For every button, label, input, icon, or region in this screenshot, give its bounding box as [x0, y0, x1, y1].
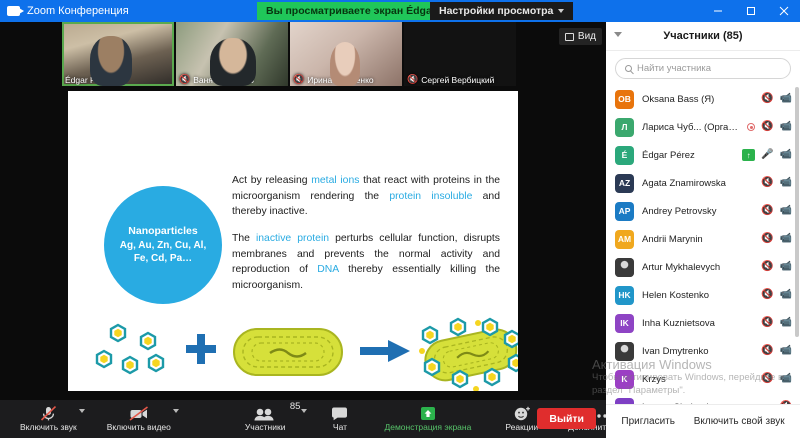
avatar: AZ: [615, 174, 634, 193]
participants-panel-footer: Пригласить Включить свой звук: [606, 404, 800, 438]
chevron-down-icon: [558, 9, 564, 13]
maximize-button[interactable]: [734, 0, 767, 22]
avatar: ОВ: [615, 90, 634, 109]
camera-off-icon[interactable]: 📹: [780, 206, 792, 216]
camera-on-icon[interactable]: 📹: [780, 150, 792, 160]
mic-off-icon[interactable]: 🔇: [761, 206, 773, 216]
grid-view-icon: [565, 33, 574, 41]
toolbar-participants-label: Участники: [245, 422, 286, 432]
toolbar-unmute-button[interactable]: Включить звук: [14, 400, 83, 438]
mic-on-icon[interactable]: 🎤: [761, 150, 773, 160]
participant-name: Artur Mykhalevych: [642, 262, 753, 273]
arrow-right-icon: [360, 340, 410, 362]
camera-off-icon[interactable]: 📹: [780, 262, 792, 272]
mic-off-icon: 🔇: [407, 75, 418, 84]
participant-status-icons: 🔇 📹: [761, 318, 792, 328]
video-thumbnail[interactable]: 🔇 Ирина Шевченко: [290, 22, 402, 86]
participant-status-icons: 🔇 📹: [761, 290, 792, 300]
p1-highlight-1: metal ions: [311, 175, 359, 186]
toolbar-chat-button[interactable]: Чат: [325, 400, 354, 438]
camera-off-icon: [129, 406, 149, 421]
view-button[interactable]: Вид: [559, 28, 602, 45]
participants-icon: [254, 406, 276, 421]
search-icon: [625, 65, 632, 72]
leave-meeting-button[interactable]: Выйти: [537, 408, 596, 429]
chat-icon: [331, 406, 348, 421]
participant-row[interactable]: AZ Agata Znamirowska 🔇 📹: [606, 169, 800, 197]
invite-button[interactable]: Пригласить: [614, 413, 682, 430]
participant-status-icons: 🔇 📹: [761, 374, 792, 384]
avatar: IK: [615, 314, 634, 333]
participant-row[interactable]: HK Helen Kostenko 🔇 📹: [606, 281, 800, 309]
meeting-toolbar: Включить звук Включить видео: [0, 400, 606, 438]
participants-panel-header: Участники (85): [606, 22, 800, 51]
camera-off-icon[interactable]: 📹: [780, 318, 792, 328]
nanoparticle-cluster: [97, 325, 163, 373]
host-indicator-icon: [747, 123, 755, 131]
avatar: [615, 258, 634, 277]
participant-status-icons: 🔇: [780, 402, 792, 404]
toolbar-participants-button[interactable]: Участники 85: [239, 400, 292, 438]
view-button-label: Вид: [578, 31, 596, 42]
mic-off-icon[interactable]: 🔇: [761, 94, 773, 104]
mic-off-icon: 🔇: [179, 75, 190, 84]
unmute-myself-button[interactable]: Включить свой звук: [687, 413, 792, 430]
shared-slide: Nanoparticles Ag, Au, Zn, Cu, Al, Fe, Cd…: [68, 91, 518, 391]
camera-off-icon[interactable]: 📹: [780, 234, 792, 244]
avatar-initials: AZ: [619, 178, 630, 188]
participant-name: Krzys: [642, 374, 753, 385]
toolbar-share-screen-button[interactable]: Демонстрация экрана: [378, 400, 477, 438]
avatar: K: [615, 370, 634, 389]
participant-status-icons: 🔇 📹: [761, 178, 792, 188]
zoom-logo-icon: [7, 6, 20, 16]
view-options-button[interactable]: Настройки просмотра: [430, 2, 573, 20]
participant-row[interactable]: Ivan Dmytrenko 🔇 📹: [606, 337, 800, 365]
participant-name: Agata Znamirowska: [642, 178, 753, 189]
participant-name: Лариса Чуб... (Организатор): [642, 122, 739, 133]
search-input[interactable]: Найти участника: [615, 58, 791, 79]
avatar: [615, 342, 634, 361]
participants-search-wrapper: Найти участника: [606, 51, 800, 85]
avatar-initials: AP: [619, 206, 631, 216]
participant-name: Helen Kostenko: [642, 290, 753, 301]
video-thumbnail-name: 🔇 Ваня Науменко: [176, 73, 288, 86]
video-filmstrip: Édgar Pérez 🔇 Ваня Науменко 🔇 Ирина Шевч…: [0, 22, 606, 86]
video-thumbnail[interactable]: 🔇 Ваня Науменко: [176, 22, 288, 86]
participants-panel: Участники (85) Найти участника ОВ Oksana…: [606, 22, 800, 438]
camera-off-icon[interactable]: 📹: [780, 290, 792, 300]
plus-sign-icon: [186, 334, 216, 364]
mic-off-icon[interactable]: 🔇: [761, 346, 773, 356]
video-thumbnail-list: Édgar Pérez 🔇 Ваня Науменко 🔇 Ирина Шевч…: [62, 22, 518, 86]
title-bar: Zoom Конференция Вы просматриваете экран…: [0, 0, 800, 22]
avatar-initials: É: [622, 150, 628, 160]
participant-name: Édgar Pérez: [642, 150, 734, 161]
participant-status-icons: ↑ 🎤 📹: [742, 149, 792, 161]
avatar-initials: IK: [620, 318, 629, 328]
chevron-down-icon[interactable]: [614, 32, 622, 37]
toolbar-share-screen-label: Демонстрация экрана: [384, 422, 471, 432]
participant-row[interactable]: Artur Mykhalevych 🔇 📹: [606, 253, 800, 281]
toolbar-reactions-label: Реакции: [505, 422, 538, 432]
participant-row[interactable]: IK Inha Kuznietsova 🔇 📹: [606, 309, 800, 337]
p2-highlight-1: inactive protein: [256, 233, 329, 244]
participant-name: Larysa Chubenko: [642, 402, 772, 405]
avatar: AM: [615, 230, 634, 249]
mic-off-icon[interactable]: 🔇: [761, 122, 773, 132]
nanoparticles-elements-2: Fe, Cd, Pa…: [134, 252, 192, 266]
nanoparticles-circle: Nanoparticles Ag, Au, Zn, Cu, Al, Fe, Cd…: [104, 186, 222, 304]
camera-off-icon[interactable]: 📹: [780, 178, 792, 188]
mic-off-icon[interactable]: 🔇: [761, 234, 773, 244]
participant-row[interactable]: É Édgar Pérez ↑ 🎤 📹: [606, 141, 800, 169]
nanoparticles-title: Nanoparticles: [128, 224, 197, 238]
video-thumbnail[interactable]: 🔇 Сергей Вербицкий: [404, 22, 516, 86]
avatar: LC: [615, 398, 634, 405]
mic-off-icon[interactable]: 🔇: [761, 178, 773, 188]
slide-paragraph-1: Act by releasing metal ions that react w…: [232, 173, 500, 220]
screen-sharing-icon: ↑: [742, 149, 755, 161]
participant-status-icons: 🔇 📹: [761, 94, 792, 104]
participant-status-icons: 🔇 📹: [761, 206, 792, 216]
video-thumbnail-name: 🔇 Ирина Шевченко: [290, 73, 402, 86]
shared-screen-stage: Nanoparticles Ag, Au, Zn, Cu, Al, Fe, Cd…: [0, 86, 606, 400]
mic-off-icon: 🔇: [293, 75, 304, 84]
toolbar-chat-label: Чат: [333, 422, 347, 432]
camera-off-icon[interactable]: 📹: [780, 346, 792, 356]
reaction-diagram: [68, 313, 518, 391]
mic-off-icon[interactable]: 🔇: [761, 290, 773, 300]
avatar-initials: LC: [619, 402, 630, 404]
avatar-initials: ОВ: [618, 94, 631, 104]
participant-row[interactable]: LC Larysa Chubenko 🔇: [606, 393, 800, 404]
mic-off-icon[interactable]: 🔇: [761, 262, 773, 272]
chevron-up-icon[interactable]: [301, 409, 307, 413]
window-controls: [701, 0, 800, 22]
avatar-initials: Л: [622, 122, 628, 132]
thumbnail-label: Ирина Шевченко: [307, 75, 373, 85]
camera-off-icon[interactable]: 📹: [780, 94, 792, 104]
close-button[interactable]: [767, 0, 800, 22]
camera-off-icon[interactable]: 📹: [780, 374, 792, 384]
participant-name: Andrii Marynin: [642, 234, 753, 245]
participant-status-icons: 🔇 📹: [761, 234, 792, 244]
share-screen-icon: [418, 406, 438, 421]
participant-row[interactable]: ОВ Oksana Bass (Я) 🔇 📹: [606, 85, 800, 113]
toolbar-start-video-button[interactable]: Включить видео: [101, 400, 177, 438]
participant-row[interactable]: AM Andrii Marynin 🔇 📹: [606, 225, 800, 253]
mic-off-icon[interactable]: 🔇: [780, 402, 792, 404]
avatar: Л: [615, 118, 634, 137]
thumbnail-label: Édgar Pérez: [65, 75, 112, 85]
participant-name: Inha Kuznietsova: [642, 318, 753, 329]
chevron-up-icon[interactable]: [79, 409, 85, 413]
chevron-up-icon[interactable]: [173, 409, 179, 413]
participant-name: Ivan Dmytrenko: [642, 346, 753, 357]
avatar: AP: [615, 202, 634, 221]
zoom-meeting-window: Zoom Конференция Вы просматриваете экран…: [0, 0, 800, 438]
toolbar-unmute-label: Включить звук: [20, 422, 77, 432]
participant-row[interactable]: Л Лариса Чуб... (Организатор) 🔇 📹: [606, 113, 800, 141]
view-options-label: Настройки просмотра: [439, 5, 553, 17]
video-thumbnail-name: Édgar Pérez: [62, 73, 174, 86]
toolbar-start-video-label: Включить видео: [107, 422, 171, 432]
mic-off-icon[interactable]: 🔇: [761, 318, 773, 328]
p2-seg1: The: [232, 233, 256, 244]
p1-seg1: Act by releasing: [232, 175, 311, 186]
search-placeholder: Найти участника: [637, 63, 711, 74]
attacked-bacterium: [419, 319, 518, 391]
avatar-initials: HK: [618, 290, 630, 300]
participant-status-icons: 🔇 📹: [761, 346, 792, 356]
p2-highlight-2: DNA: [317, 264, 338, 275]
avatar-initials: AM: [618, 234, 631, 244]
participants-scrollbar[interactable]: [795, 87, 799, 337]
video-thumbnail-name: 🔇 Сергей Вербицкий: [404, 73, 516, 86]
participant-name: Andrey Petrovsky: [642, 206, 753, 217]
participant-row[interactable]: K Krzys 🔇 📹: [606, 365, 800, 393]
mic-off-icon[interactable]: 🔇: [761, 374, 773, 384]
reactions-icon: [513, 406, 531, 421]
bacterium-shape: [234, 329, 342, 375]
video-thumbnail[interactable]: Édgar Pérez: [62, 22, 174, 86]
thumbnail-label: Сергей Вербицкий: [421, 75, 494, 85]
thumbnail-label: Ваня Науменко: [193, 75, 254, 85]
slide-paragraph-2: The inactive protein perturbs cellular f…: [232, 231, 500, 293]
participants-list[interactable]: ОВ Oksana Bass (Я) 🔇 📹 Л Лариса Чуб... (…: [606, 85, 800, 404]
minimize-button[interactable]: [701, 0, 734, 22]
avatar: HK: [615, 286, 634, 305]
participant-status-icons: 🔇 📹: [761, 262, 792, 272]
leave-meeting-label: Выйти: [549, 413, 584, 425]
window-title: Zoom Конференция: [27, 5, 129, 17]
participants-panel-title: Участники (85): [663, 30, 742, 42]
participant-status-icons: 🔇 📹: [747, 122, 792, 132]
camera-off-icon[interactable]: 📹: [780, 122, 792, 132]
participant-row[interactable]: AP Andrey Petrovsky 🔇 📹: [606, 197, 800, 225]
p1-highlight-2: protein insoluble: [389, 191, 472, 202]
mic-off-icon: [40, 406, 57, 421]
participants-count-badge: 85: [290, 401, 301, 412]
avatar: É: [615, 146, 634, 165]
nanoparticles-elements-1: Ag, Au, Zn, Cu, Al,: [120, 239, 206, 253]
participant-name: Oksana Bass (Я): [642, 94, 753, 105]
avatar-initials: K: [621, 374, 627, 384]
